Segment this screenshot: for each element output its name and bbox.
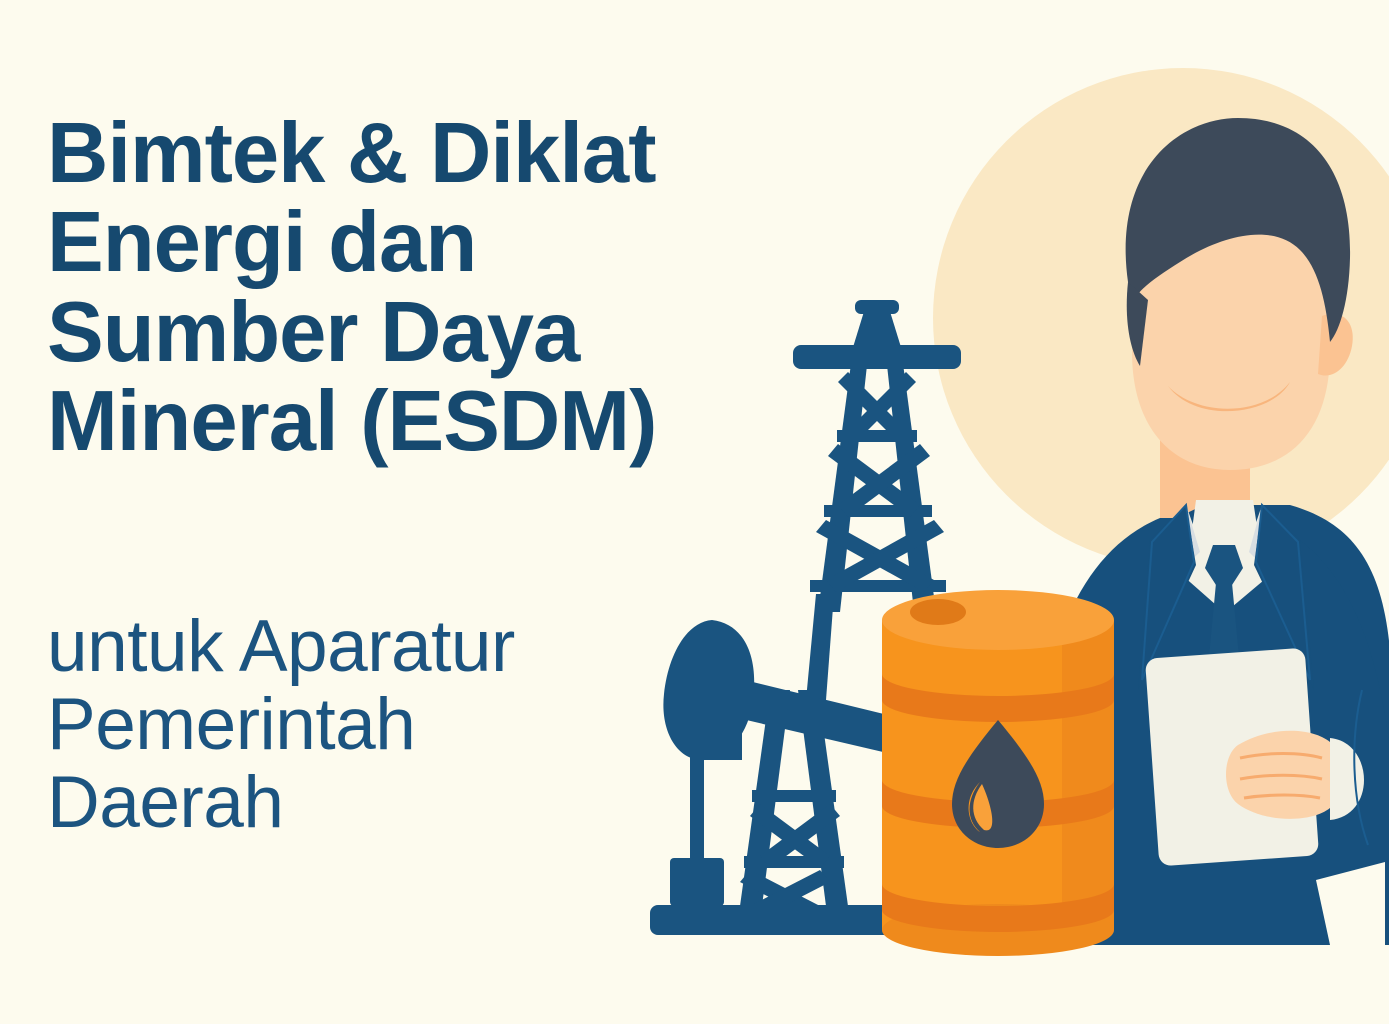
hand: [1226, 731, 1364, 820]
background-circle: [933, 68, 1389, 568]
oil-barrel: [882, 590, 1114, 956]
subhead-line-1: untuk Aparatur: [47, 608, 747, 686]
oil-drop-emblem: [952, 720, 1044, 848]
headline-block: Bimtek & Diklat Energi dan Sumber Daya M…: [47, 112, 837, 469]
poster-canvas: Bimtek & Diklat Energi dan Sumber Daya M…: [0, 0, 1389, 1024]
headline-line-3: Sumber Daya: [47, 291, 837, 374]
tablet-document: [1145, 648, 1319, 867]
subhead-line-3: Daerah: [47, 764, 747, 842]
headline-line-2: Energi dan: [47, 201, 837, 284]
subhead-block: untuk Aparatur Pemerintah Daerah: [47, 608, 747, 842]
headline-line-1: Bimtek & Diklat: [47, 112, 837, 195]
headline-line-4: Mineral (ESDM): [47, 380, 837, 463]
subhead-line-2: Pemerintah: [47, 686, 747, 764]
